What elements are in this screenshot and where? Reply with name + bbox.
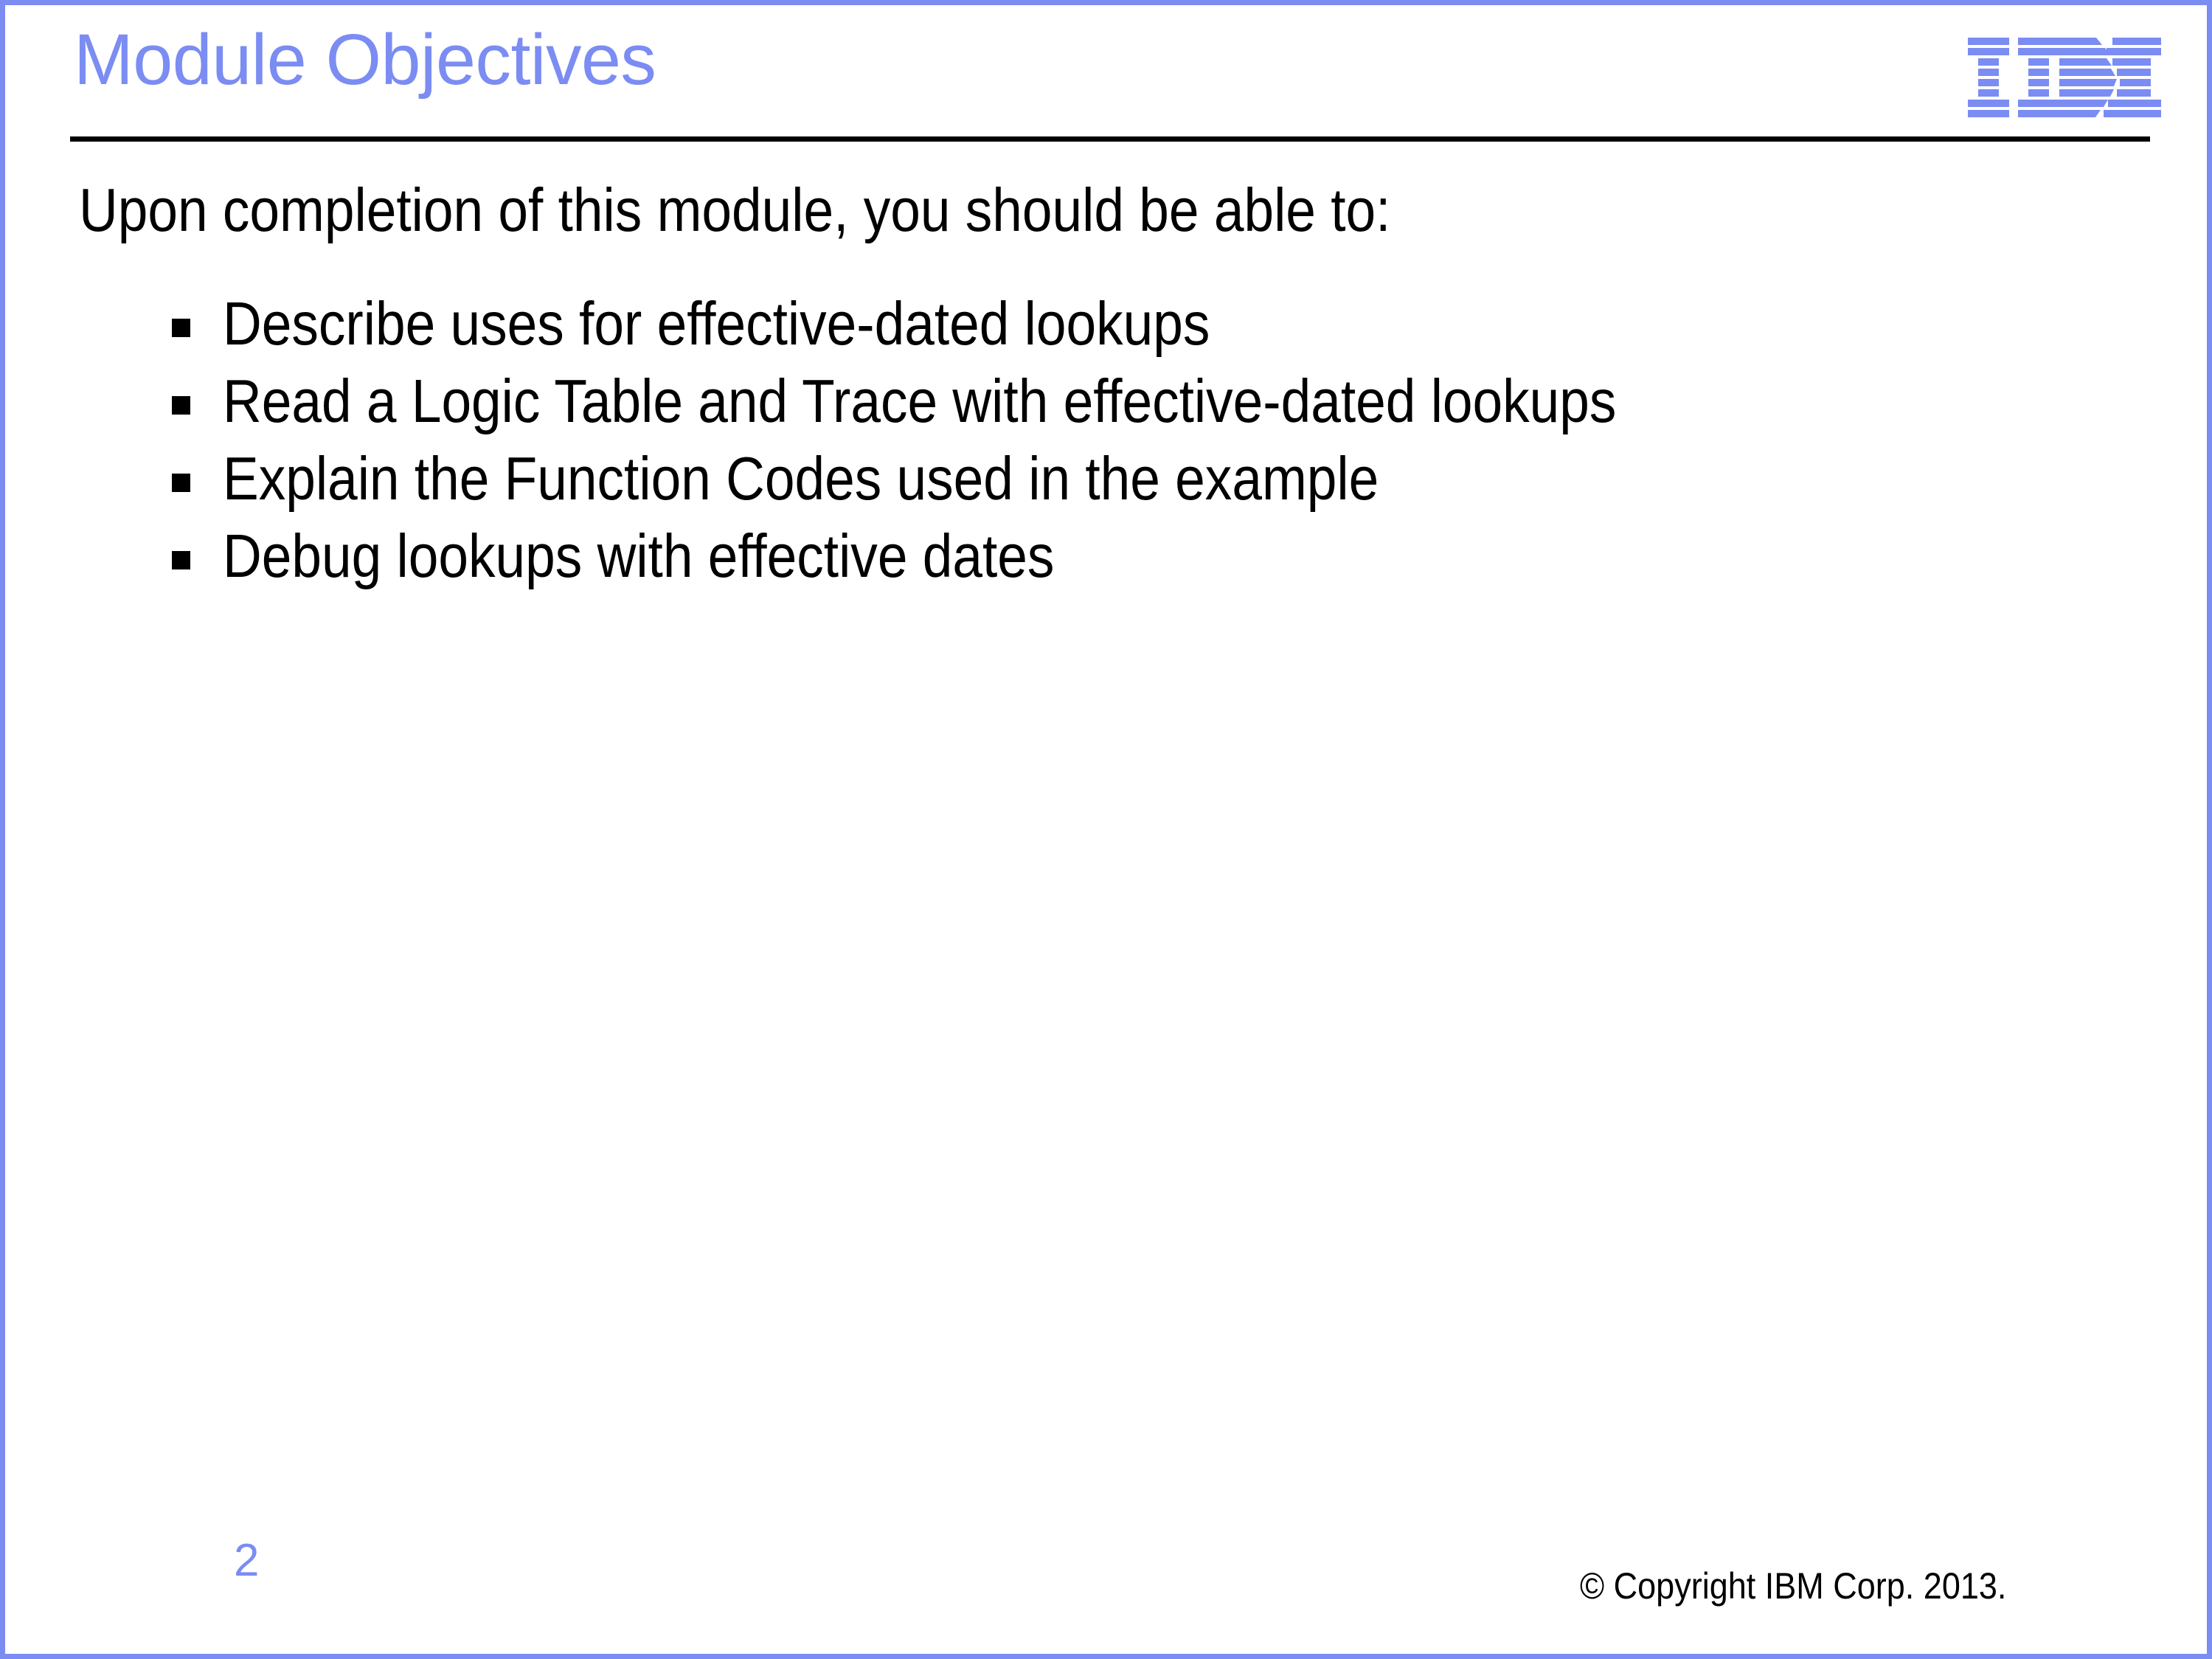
square-bullet-icon	[172, 551, 190, 569]
square-bullet-icon	[172, 319, 190, 337]
list-item: Describe uses for effective-dated lookup…	[172, 287, 1806, 364]
list-item: Explain the Function Codes used in the e…	[172, 442, 1806, 519]
objectives-list: Describe uses for effective-dated lookup…	[172, 287, 1806, 597]
slide-canvas: Module Objectives	[0, 0, 2212, 1659]
square-bullet-icon	[172, 396, 190, 415]
page-title: Module Objectives	[74, 21, 656, 99]
page-number: 2	[234, 1538, 259, 1584]
ibm-logo	[1968, 38, 2161, 119]
list-item: Debug lookups with effective dates	[172, 519, 1806, 597]
intro-text: Upon completion of this module, you shou…	[79, 176, 1390, 245]
copyright-notice: © Copyright IBM Corp. 2013.	[1580, 1568, 2006, 1604]
list-item: Read a Logic Table and Trace with effect…	[172, 364, 1806, 442]
list-item-label: Explain the Function Codes used in the e…	[223, 443, 1379, 513]
title-divider	[70, 136, 2150, 142]
list-item-label: Describe uses for effective-dated lookup…	[223, 288, 1210, 359]
list-item-label: Debug lookups with effective dates	[223, 521, 1054, 591]
square-bullet-icon	[172, 474, 190, 492]
list-item-label: Read a Logic Table and Trace with effect…	[223, 366, 1616, 436]
